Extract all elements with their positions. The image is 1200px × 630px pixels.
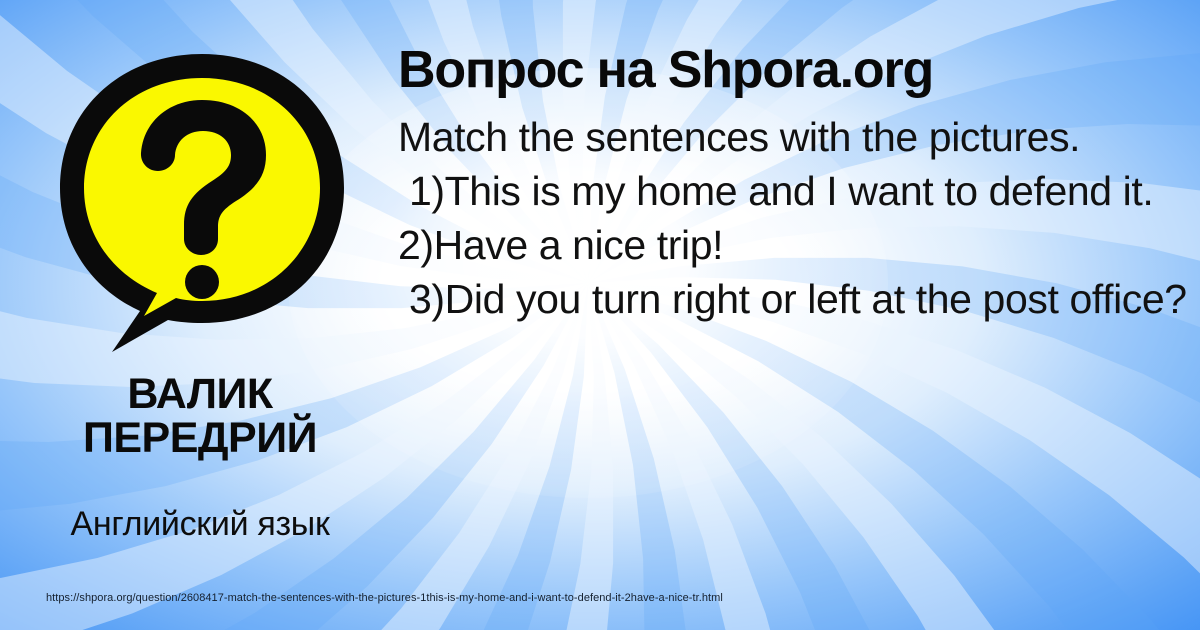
source-url[interactable]: https://shpora.org/question/2608417-matc… [46,592,723,604]
poster-card: ВАЛИК ПЕРЕДРИЙ Английский язык Вопрос на… [0,0,1200,630]
author-name: ВАЛИК ПЕРЕДРИЙ [0,372,400,461]
right-column: Вопрос на Shpora.org Match the sentences… [398,42,1188,327]
question-text: Match the sentences with the pictures. 1… [398,110,1188,326]
question-speech-bubble-icon [52,48,352,358]
page-title: Вопрос на Shpora.org [398,42,1188,98]
subject-label: Английский язык [0,505,400,544]
left-column: ВАЛИК ПЕРЕДРИЙ Английский язык [0,0,400,630]
